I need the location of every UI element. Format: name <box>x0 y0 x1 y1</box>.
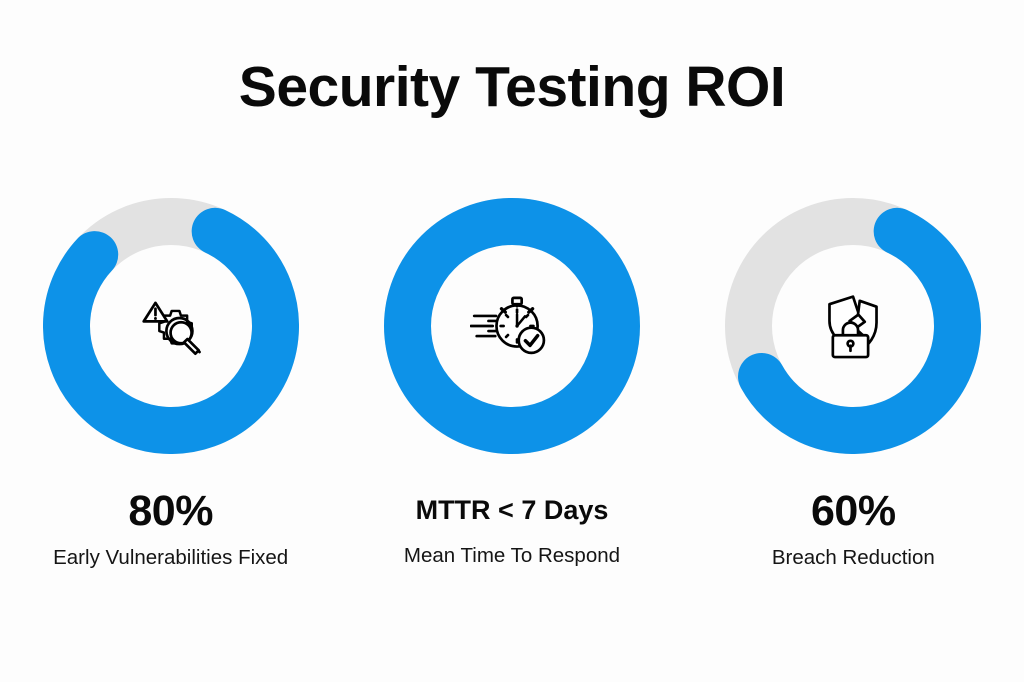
infographic-canvas: Security Testing ROI <box>0 0 1024 682</box>
stat-value: 80% <box>6 488 336 535</box>
page-title: Security Testing ROI <box>0 55 1024 121</box>
broken-shield-lock-icon <box>811 284 895 368</box>
stat-card-mean-time-to-respond: MTTR < 7 Days Mean Time To Respond <box>352 198 672 568</box>
stat-card-breach-reduction: 60% Breach Reduction <box>693 198 1013 571</box>
stat-card-early-vulnerabilities-fixed: 80% Early Vulnerabilities Fixed <box>11 198 331 571</box>
gear-warning-magnifier-icon <box>129 284 213 368</box>
stat-description: Breach Reduction <box>688 546 1018 571</box>
stats-row: 80% Early Vulnerabilities Fixed <box>0 198 1024 571</box>
stat-description: Mean Time To Respond <box>347 544 677 569</box>
donut-chart-breach-reduction <box>725 198 981 454</box>
donut-chart-early-vulnerabilities-fixed <box>43 198 299 454</box>
stat-caption: MTTR < 7 Days Mean Time To Respond <box>347 488 677 568</box>
stat-value: MTTR < 7 Days <box>347 488 677 533</box>
stat-description: Early Vulnerabilities Fixed <box>6 546 336 571</box>
stat-value: 60% <box>688 488 1018 535</box>
stopwatch-check-icon <box>470 284 554 368</box>
donut-chart-mean-time-to-respond <box>384 198 640 454</box>
stat-caption: 60% Breach Reduction <box>688 488 1018 571</box>
stat-caption: 80% Early Vulnerabilities Fixed <box>6 488 336 571</box>
